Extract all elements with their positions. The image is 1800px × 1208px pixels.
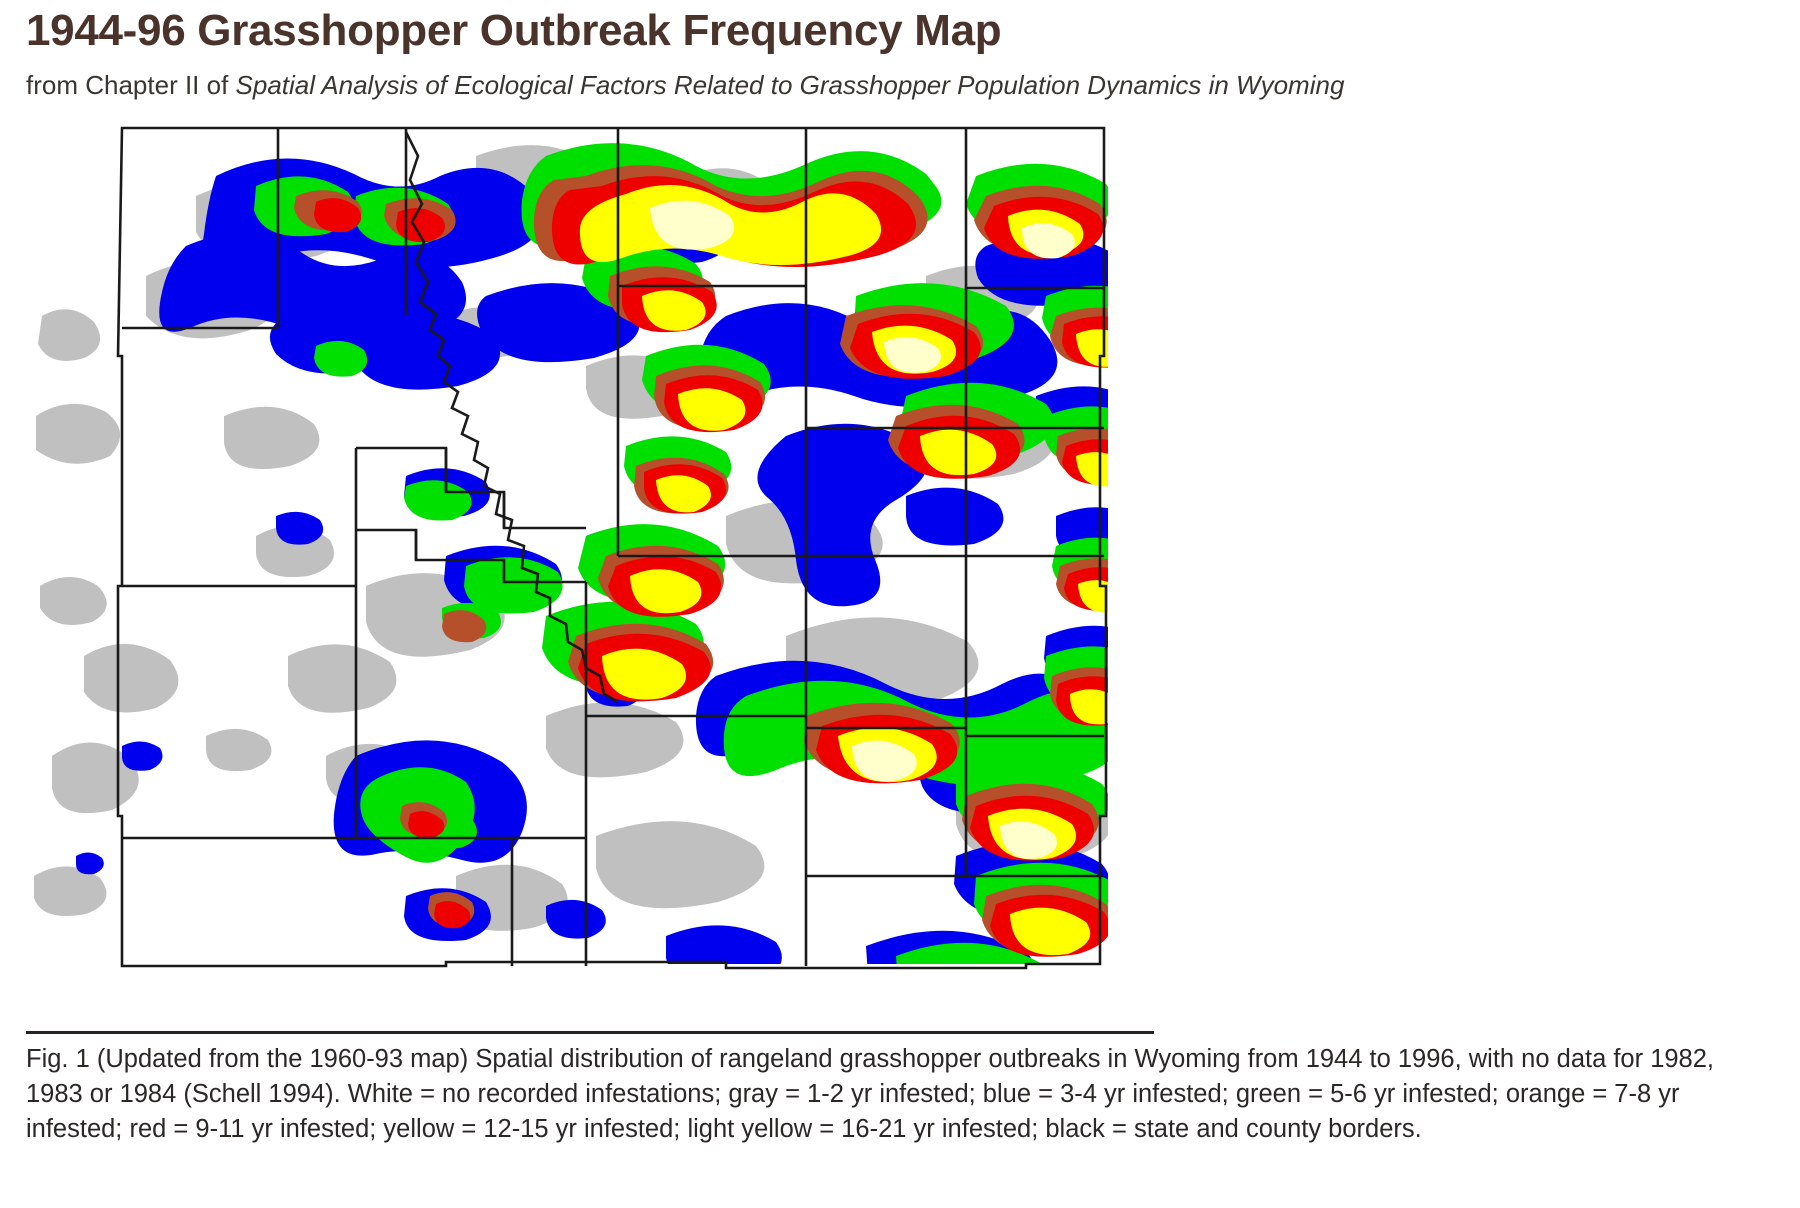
- page-subtitle: from Chapter II of Spatial Analysis of E…: [26, 69, 1774, 102]
- page-title: 1944-96 Grasshopper Outbreak Frequency M…: [26, 6, 1774, 55]
- subtitle-prefix: from Chapter II of: [26, 70, 236, 100]
- figure-caption: Fig. 1 (Updated from the 1960-93 map) Sp…: [26, 1042, 1768, 1148]
- figure-map-container: [26, 116, 1186, 978]
- wyoming-outbreak-map: [26, 116, 1186, 978]
- figure-rule: [26, 1031, 1154, 1034]
- subtitle-work-title: Spatial Analysis of Ecological Factors R…: [236, 70, 1345, 100]
- figure-page: 1944-96 Grasshopper Outbreak Frequency M…: [0, 6, 1800, 1208]
- map-svg: [26, 116, 1186, 978]
- map-raster-layer: [34, 124, 1162, 978]
